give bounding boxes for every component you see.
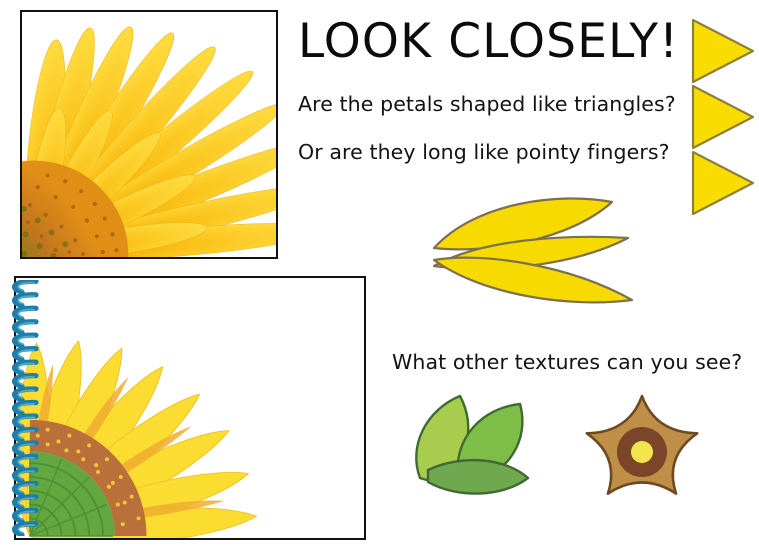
- spiral-binding-rings: [6, 280, 42, 536]
- page-title: LOOK CLOSELY!: [298, 17, 679, 66]
- sunflower-sketchbook: [6, 276, 366, 540]
- green-leaves-icon: [406, 392, 540, 498]
- question-petals-fingers: Or are they long like pointy fingers?: [298, 140, 670, 164]
- question-other-textures: What other textures can you see?: [392, 350, 742, 374]
- spiral-binding: [6, 280, 42, 536]
- worksheet-slide: LOOK CLOSELY! Are the petals shaped like…: [0, 0, 759, 546]
- star-texture-shape: [572, 388, 712, 508]
- sketchbook-page: [14, 276, 366, 540]
- brown-star-icon: [572, 388, 712, 508]
- sunflower-illustration-image: [16, 278, 364, 538]
- sunflower-photo-frame: [20, 10, 278, 259]
- sunflower-photo-image: [22, 12, 276, 257]
- triangle-stack-icon: [690, 18, 756, 216]
- triangle-stack: [690, 18, 756, 216]
- long-petals-icon: [432, 196, 636, 310]
- petal-shape-group: [432, 196, 636, 310]
- green-leaf-group: [406, 392, 540, 498]
- question-petals-triangles: Are the petals shaped like triangles?: [298, 92, 676, 116]
